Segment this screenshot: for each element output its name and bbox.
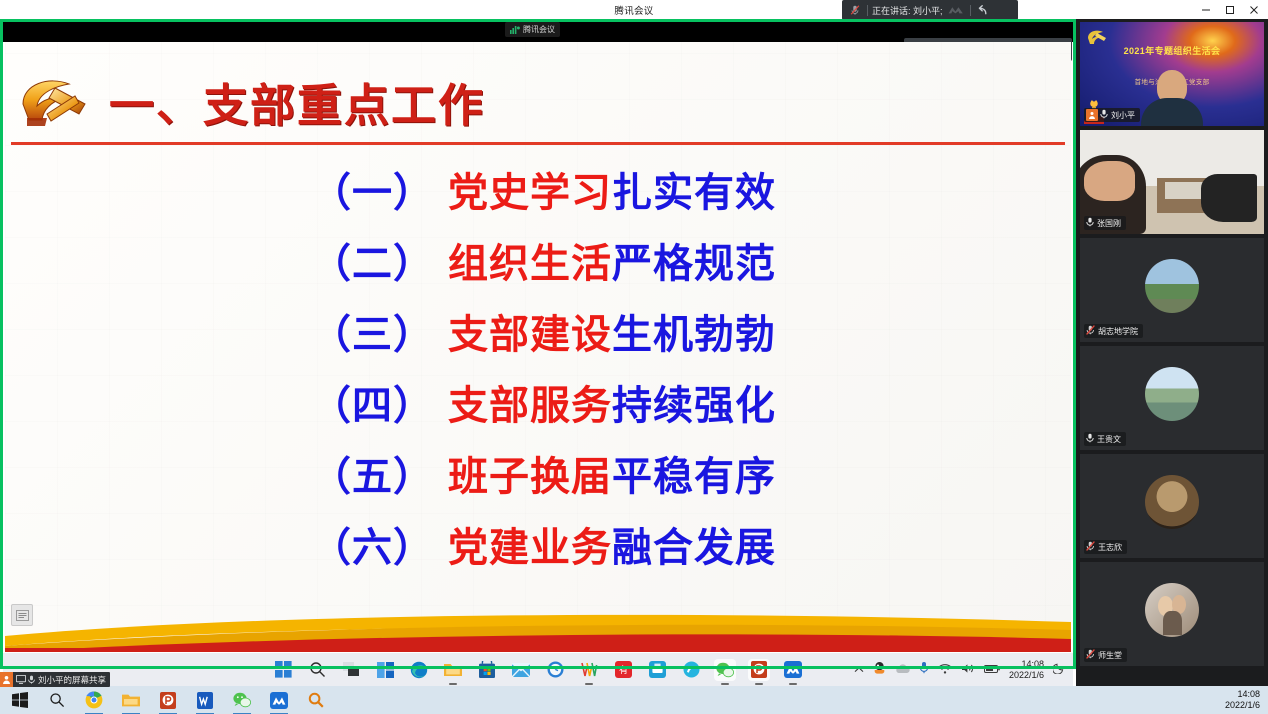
return-arrow-icon[interactable] bbox=[976, 2, 992, 18]
everything-search-icon[interactable] bbox=[306, 690, 326, 710]
local-clock-date: 2022/1/6 bbox=[1225, 700, 1260, 710]
mic-muted-icon bbox=[1086, 538, 1095, 556]
speaking-label: 正在讲话: 刘小平; bbox=[872, 4, 943, 17]
participant-tile[interactable]: 师生堂 bbox=[1080, 562, 1264, 666]
mic-muted-icon bbox=[1086, 646, 1095, 664]
maximize-button[interactable] bbox=[1218, 0, 1242, 19]
tencent-meeting-window: 腾讯会议 正在讲话: 刘小平; bbox=[0, 0, 1268, 714]
participant-tile[interactable]: 2021年专题组织生活会 首地与油藏、教工党支部 刘小平 bbox=[1080, 22, 1264, 126]
toolbar-divider bbox=[867, 5, 868, 16]
participant-tile[interactable]: 王志欣 bbox=[1080, 454, 1264, 558]
participant-tile[interactable]: 王贵文 bbox=[1080, 346, 1264, 450]
avatar bbox=[1145, 367, 1199, 421]
file-explorer-icon[interactable] bbox=[121, 690, 141, 710]
running-indicator bbox=[585, 683, 593, 685]
toolbar-divider-2 bbox=[970, 5, 971, 16]
running-indicator bbox=[755, 683, 763, 685]
participant-name-badge: 师生堂 bbox=[1084, 648, 1127, 662]
minimize-button[interactable] bbox=[1194, 0, 1218, 19]
participant-name: 王贵文 bbox=[1097, 434, 1121, 445]
powerpoint-icon[interactable] bbox=[158, 690, 178, 710]
participant-name: 王志欣 bbox=[1098, 542, 1122, 553]
floating-speaker-toolbar[interactable]: 正在讲话: 刘小平; bbox=[842, 0, 1018, 20]
screen-share-indicator[interactable]: 刘小平的屏幕共享 bbox=[0, 672, 110, 687]
running-indicator bbox=[789, 683, 797, 685]
avatar bbox=[1145, 259, 1199, 313]
mic-muted-icon bbox=[1086, 322, 1095, 340]
screen-share-border bbox=[0, 19, 1076, 669]
participant-video bbox=[1141, 70, 1203, 126]
screen-share-icon bbox=[16, 671, 26, 689]
participant-rail: 2021年专题组织生活会 首地与油藏、教工党支部 刘小平 bbox=[1076, 19, 1268, 686]
mic-on-icon bbox=[1086, 430, 1094, 448]
search-icon[interactable] bbox=[47, 690, 67, 710]
participant-name-badge: 张国刚 bbox=[1084, 216, 1126, 230]
participant-name: 刘小平 bbox=[1111, 110, 1135, 121]
participant-name-badge: 王贵文 bbox=[1084, 432, 1126, 446]
host-badge-icon bbox=[1086, 109, 1098, 121]
chrome-icon[interactable] bbox=[84, 690, 104, 710]
mic-on-icon bbox=[1100, 106, 1108, 124]
person-body bbox=[1141, 98, 1203, 126]
person-icon bbox=[0, 672, 13, 687]
tencent-meeting-icon[interactable] bbox=[269, 690, 289, 710]
running-indicator bbox=[449, 683, 457, 685]
participant-name-badge: 刘小平 bbox=[1084, 108, 1140, 122]
participant-name: 师生堂 bbox=[1098, 650, 1122, 661]
local-clock-time: 14:08 bbox=[1237, 689, 1260, 699]
participant-tile[interactable]: 胡志地学院 bbox=[1080, 238, 1264, 342]
mic-on-icon bbox=[1086, 214, 1094, 232]
local-clock[interactable]: 14:08 2022/1/6 bbox=[1225, 689, 1260, 711]
participant-name: 胡志地学院 bbox=[1098, 326, 1138, 337]
participant-name: 张国刚 bbox=[1097, 218, 1121, 229]
windows-start-icon[interactable] bbox=[10, 690, 30, 710]
virtual-bg-title: 2021年专题组织生活会 bbox=[1080, 44, 1264, 57]
mic-muted-icon[interactable] bbox=[847, 2, 863, 18]
wechat-icon[interactable] bbox=[232, 690, 252, 710]
clock-date: 2022/1/6 bbox=[1009, 670, 1044, 680]
participant-name-badge: 胡志地学院 bbox=[1084, 324, 1143, 338]
local-windows-taskbar: 14:08 2022/1/6 bbox=[0, 686, 1268, 714]
word-icon[interactable] bbox=[195, 690, 215, 710]
window-title: 腾讯会议 bbox=[614, 3, 653, 17]
close-button[interactable] bbox=[1242, 0, 1266, 19]
avatar bbox=[1145, 475, 1199, 529]
avatar-person-c bbox=[1163, 611, 1181, 635]
tencent-meeting-logo-icon bbox=[948, 2, 964, 18]
person-face bbox=[1084, 161, 1136, 201]
room-object bbox=[1201, 174, 1256, 222]
participant-name-badge: 王志欣 bbox=[1084, 540, 1127, 554]
window-controls bbox=[1194, 0, 1266, 19]
avatar bbox=[1145, 583, 1199, 637]
participant-tile[interactable]: 张国刚 bbox=[1080, 130, 1264, 234]
running-indicator bbox=[721, 683, 729, 685]
window-titlebar: 腾讯会议 bbox=[0, 0, 1268, 19]
mic-icon bbox=[28, 671, 35, 689]
share-indicator-label: 刘小平的屏幕共享 bbox=[38, 674, 106, 686]
